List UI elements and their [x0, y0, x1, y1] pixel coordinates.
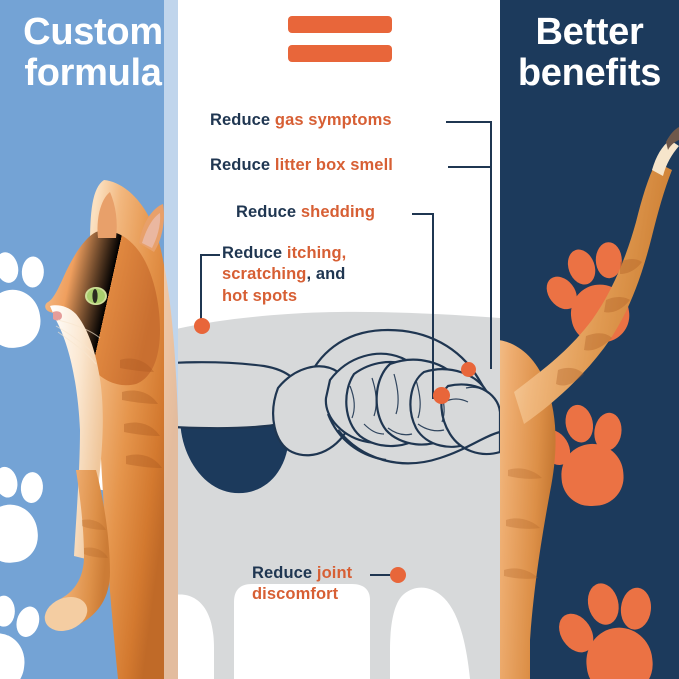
benefit-discomfort-highlight: discomfort [252, 585, 338, 603]
left-headline-line1: Custom [23, 11, 163, 53]
benefit-litter-highlight: litter box smell [275, 156, 393, 174]
right-panel: Better benefits [500, 0, 679, 679]
benefit-shedding-prefix: Reduce [236, 203, 301, 221]
benefit-gas-highlight: gas symptoms [275, 111, 392, 129]
benefit-hotspots-highlight: hot spots [222, 287, 297, 305]
benefit-itching-prefix: Reduce [222, 244, 287, 262]
hotspot-dot-shedding[interactable] [433, 387, 450, 404]
leader-line-litter-horizontal [448, 166, 492, 168]
right-headline-line2: benefits [502, 53, 677, 94]
benefit-label-shedding: Reduce shedding [236, 202, 375, 223]
benefit-itching-mid: , and [306, 265, 345, 283]
right-headline-line1: Better [535, 11, 643, 53]
cat-photo-right [500, 0, 679, 679]
hotspot-dot-itching[interactable] [194, 318, 210, 334]
right-headline: Better benefits [502, 12, 677, 94]
benefit-gas-prefix: Reduce [210, 111, 275, 129]
leader-line-itching-horizontal [200, 254, 220, 256]
left-headline: Custom formula [8, 12, 178, 94]
benefit-label-litter: Reduce litter box smell [210, 155, 393, 176]
benefit-shedding-highlight: shedding [301, 203, 375, 221]
leader-line-gas-vertical [490, 121, 492, 369]
cat-photo-left [0, 0, 178, 679]
benefit-litter-prefix: Reduce [210, 156, 275, 174]
benefit-joint-highlight: joint [317, 564, 352, 582]
benefit-label-gas: Reduce gas symptoms [210, 110, 392, 131]
left-headline-line2: formula [8, 53, 178, 94]
left-panel: Custom formula [0, 0, 178, 679]
benefit-label-joint: Reduce joint discomfort [252, 563, 412, 606]
leader-line-shedding-horizontal [412, 213, 434, 215]
leader-line-shedding-vertical [432, 213, 434, 399]
benefit-scratching-highlight: scratching [222, 265, 306, 283]
benefit-joint-prefix: Reduce [252, 564, 317, 582]
benefit-itching-highlight: itching, [287, 244, 346, 262]
infographic-root: Custom formula [0, 0, 679, 679]
leader-line-itching-vertical [200, 254, 202, 322]
hotspot-dot-gas[interactable] [461, 362, 476, 377]
benefit-label-itching: Reduce itching, scratching, and hot spot… [222, 243, 422, 307]
center-panel: Reduce gas symptoms Reduce litter box sm… [178, 0, 500, 679]
leader-line-gas-horizontal [446, 121, 492, 123]
